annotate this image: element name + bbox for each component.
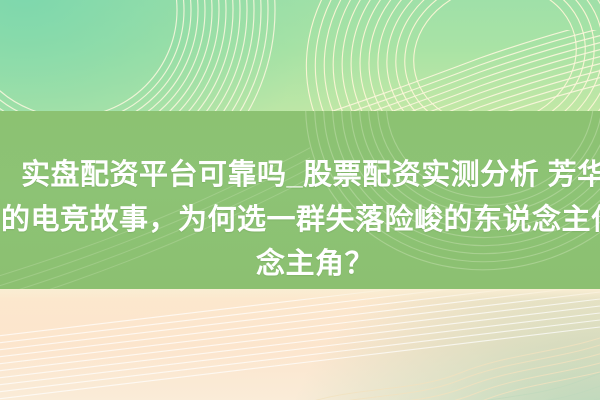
headline-text-block: 实盘配资平台可靠吗_股票配资实测分析 芳华热 的电竞故事，为何选一群失落险峻的东… [0, 111, 600, 289]
headline-line-2: 的电竞故事，为何选一群失落险峻的东说念主作念主角 [1, 206, 600, 235]
headline-line-3: 念主角？ [256, 250, 374, 279]
band-bottom-sheen [0, 289, 600, 301]
headline-line-1: 实盘配资平台可靠吗_股票配资实测分析 芳华热 [21, 161, 600, 190]
banner-canvas: 实盘配资平台可靠吗_股票配资实测分析 芳华热 的电竞故事，为何选一群失落险峻的东… [0, 0, 600, 400]
